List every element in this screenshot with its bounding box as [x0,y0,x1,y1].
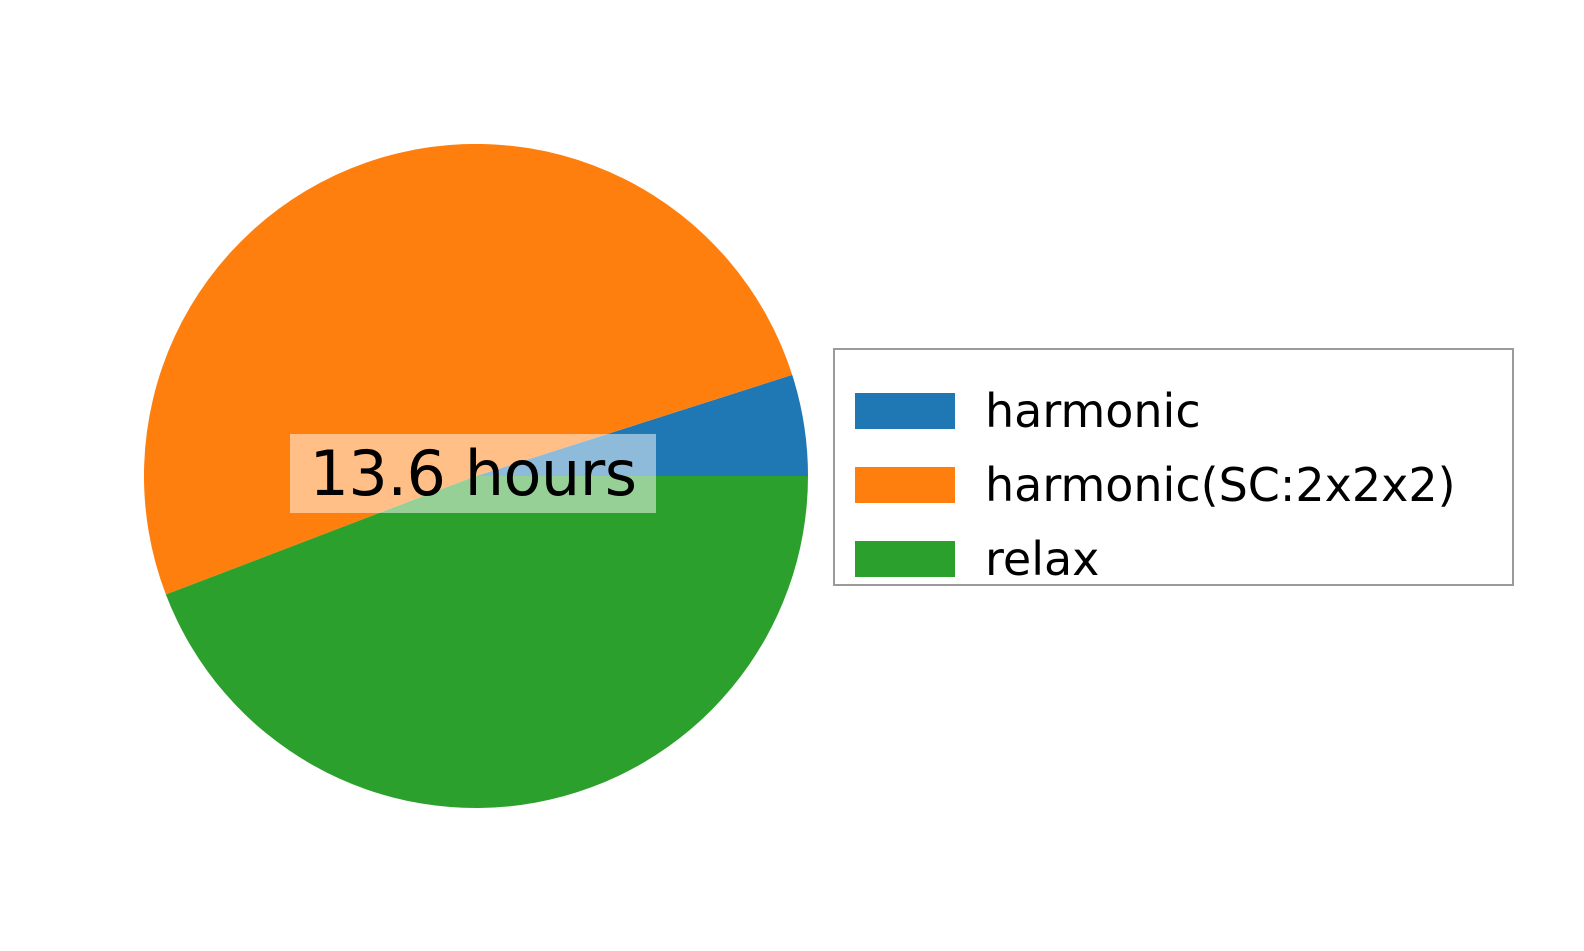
legend-swatch-harmonic-sc [855,467,955,503]
chart-legend: harmonic harmonic(SC:2x2x2) relax [833,348,1514,586]
legend-label-harmonic: harmonic [985,388,1201,434]
legend-item-harmonic-sc[interactable]: harmonic(SC:2x2x2) [835,448,1512,522]
legend-label-harmonic-sc: harmonic(SC:2x2x2) [985,462,1456,508]
pie-chart-figure: 13.6 hours harmonic harmonic(SC:2x2x2) r… [0,0,1584,951]
legend-swatch-relax [855,541,955,577]
legend-item-relax[interactable]: relax [835,522,1512,596]
legend-label-relax: relax [985,536,1099,582]
legend-swatch-harmonic [855,393,955,429]
legend-item-harmonic[interactable]: harmonic [835,374,1512,448]
pie-center-total-label: 13.6 hours [290,434,656,513]
pie-total-hours-text: 13.6 hours [309,443,636,505]
